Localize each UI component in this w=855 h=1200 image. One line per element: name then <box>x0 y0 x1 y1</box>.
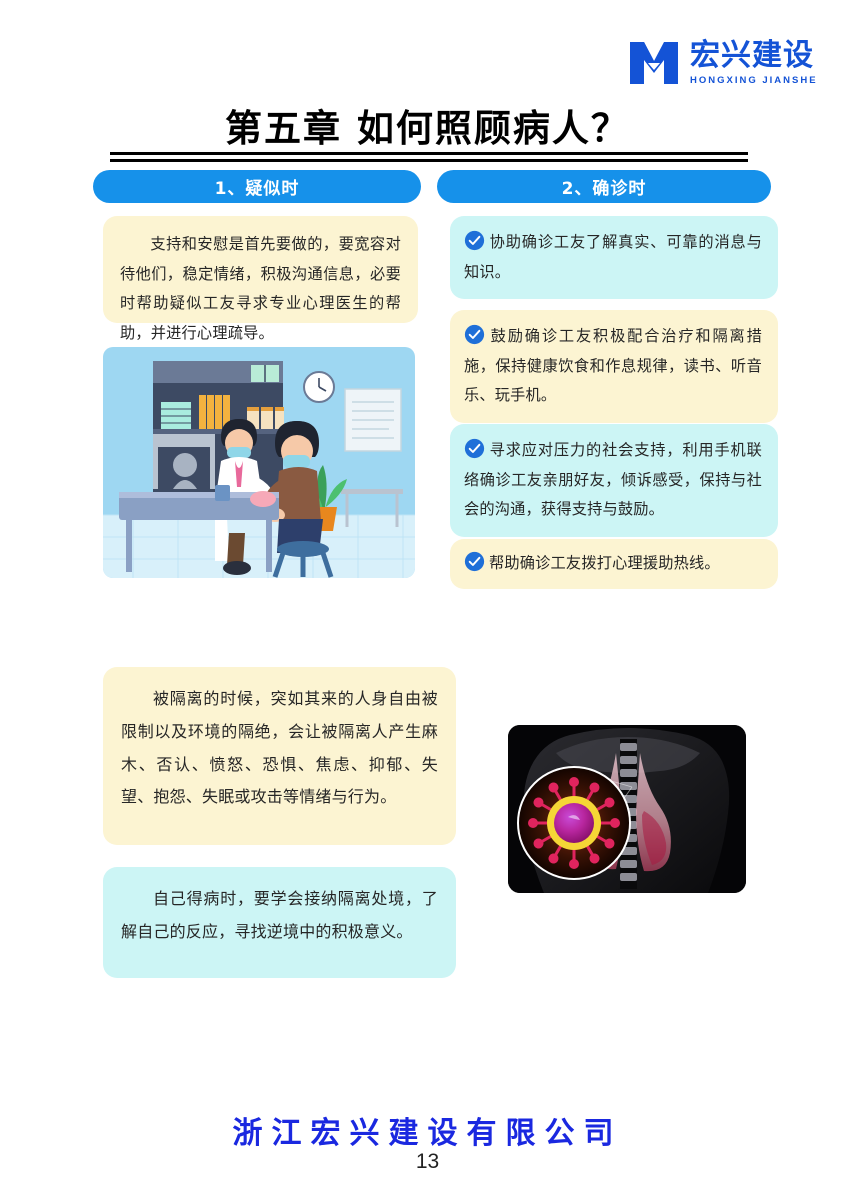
clinic-scene-svg <box>103 347 415 578</box>
section-header-suspected: 1、疑似时 <box>93 170 421 203</box>
confirmed-tip-text-1: 协助确诊工友了解真实、可靠的消息与知识。 <box>464 233 762 281</box>
blue-check-circle-icon <box>464 438 485 459</box>
lungs-with-virus-photo <box>508 725 746 893</box>
confirmed-tip-item-1: 协助确诊工友了解真实、可靠的消息与知识。 <box>450 216 778 299</box>
isolation-emotions-text: 被隔离的时候，突如其来的人身自由被限制以及环境的隔绝，会让被隔离人产生麻木、否认… <box>121 683 438 814</box>
suspected-advice-text: 支持和安慰是首先要做的，要宽容对待他们，稳定情绪，积极沟通信息，必要时帮助疑似工… <box>120 230 401 349</box>
logo-pinyin-name: HONGXING JIANSHE <box>690 76 818 86</box>
blue-check-circle-icon <box>464 551 485 572</box>
page-number: 13 <box>0 1150 855 1174</box>
confirmed-tip-text-3: 寻求应对压力的社会支持，利用手机联络确诊工友亲朋好友，倾诉感受，保持与社会的沟通… <box>464 441 762 518</box>
footer-company-name: 浙江宏兴建设有限公司 <box>0 1108 855 1152</box>
lungs-virus-svg <box>508 725 746 893</box>
hongxing-m-mark-icon <box>628 40 680 86</box>
section-header-confirmed: 2、确诊时 <box>437 170 771 203</box>
self-acceptance-text: 自己得病时，要学会接纳隔离处境，了解自己的反应，寻找逆境中的积极意义。 <box>121 883 438 949</box>
self-acceptance-box: 自己得病时，要学会接纳隔离处境，了解自己的反应，寻找逆境中的积极意义。 <box>103 867 456 978</box>
title-divider-bottom <box>110 159 748 162</box>
blue-check-circle-icon <box>464 230 485 251</box>
suspected-advice-box: 支持和安慰是首先要做的，要宽容对待他们，稳定情绪，积极沟通信息，必要时帮助疑似工… <box>103 216 418 323</box>
blue-check-circle-icon <box>464 324 485 345</box>
company-logo: 宏兴建设 HONGXING JIANSHE <box>628 33 828 93</box>
confirmed-tip-item-2: 鼓励确诊工友积极配合治疗和隔离措施，保持健康饮食和作息规律，读书、听音乐、玩手机… <box>450 310 778 423</box>
doctor-consultation-illustration <box>103 347 415 578</box>
title-divider-top <box>110 152 748 155</box>
confirmed-tip-text-4: 帮助确诊工友拨打心理援助热线。 <box>489 554 720 572</box>
isolation-emotions-box: 被隔离的时候，突如其来的人身自由被限制以及环境的隔绝，会让被隔离人产生麻木、否认… <box>103 667 456 845</box>
confirmed-tip-item-4: 帮助确诊工友拨打心理援助热线。 <box>450 539 778 589</box>
confirmed-tip-item-3: 寻求应对压力的社会支持，利用手机联络确诊工友亲朋好友，倾诉感受，保持与社会的沟通… <box>450 424 778 537</box>
page-title: 第五章 如何照顾病人？ <box>0 98 855 152</box>
logo-chinese-name: 宏兴建设 <box>690 41 818 71</box>
confirmed-tip-text-2: 鼓励确诊工友积极配合治疗和隔离措施，保持健康饮食和作息规律，读书、听音乐、玩手机… <box>464 327 762 404</box>
